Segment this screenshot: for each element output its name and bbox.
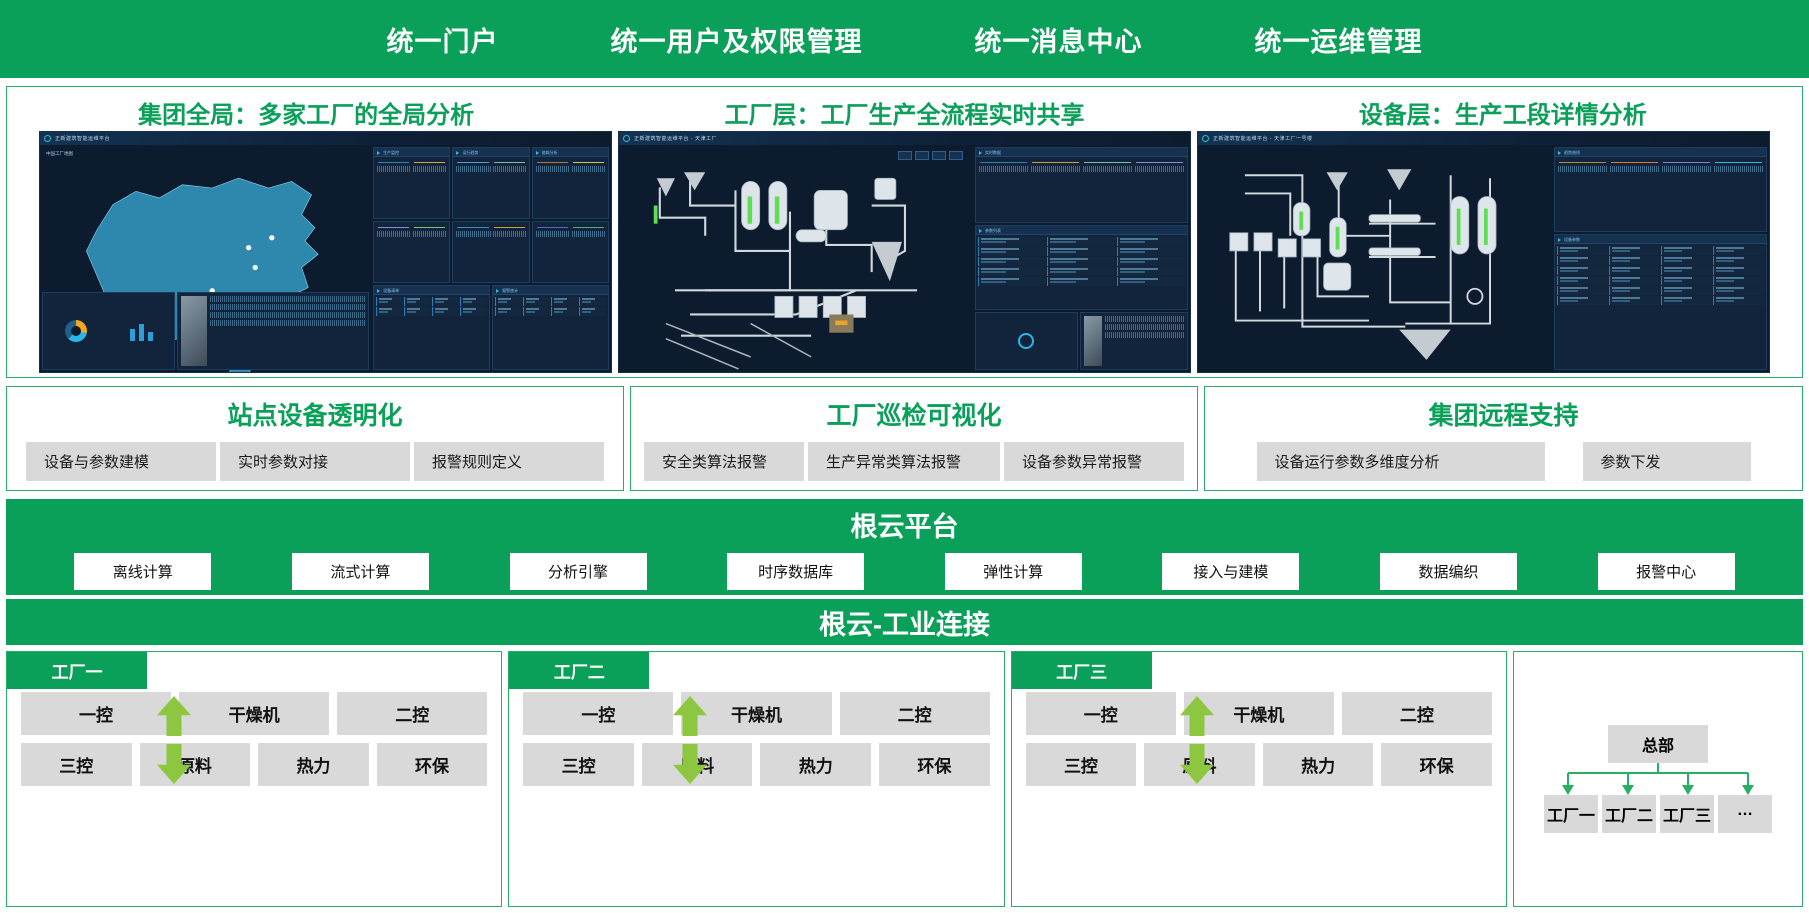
capability-panel-remote-support: 集团远程支持 设备运行参数多维度分析 参数下发	[1204, 386, 1803, 491]
banner-item-user-permission[interactable]: 统一用户及权限管理	[611, 20, 863, 59]
chip-ingest-and-modeling[interactable]: 接入与建模	[1162, 553, 1299, 590]
chip-production-anomaly-alarm[interactable]: 生产异常类算法报警	[808, 442, 1000, 481]
factory-tab-1[interactable]: 工厂一	[7, 652, 147, 689]
factory-box-2: 工厂二 一控 干燥机 二控 三控 原料 热力 环保	[508, 651, 1004, 907]
chip-alarm-center[interactable]: 报警中心	[1598, 553, 1735, 590]
banner-item-ops-management[interactable]: 统一运维管理	[1255, 20, 1423, 59]
dashboard3-title: 正新建筑智能运维平台 - 天津工厂一号楼	[1213, 135, 1312, 142]
thumbnail-photo	[181, 296, 207, 366]
dashboard2-title: 正新建筑智能运维平台 - 天津工厂	[634, 135, 717, 142]
chip-alarm-rule-definition[interactable]: 报警规则定义	[414, 442, 604, 481]
banner-item-message-center[interactable]: 统一消息中心	[975, 20, 1143, 59]
capability-title: 工厂巡检可视化	[826, 396, 1001, 432]
dashboard-section: 集团全局：多家工厂的全局分析 工厂层：工厂生产全流程实时共享 设备层：生产工段详…	[6, 86, 1803, 378]
capability-panels: 站点设备透明化 设备与参数建模 实时参数对接 报警规则定义 工厂巡检可视化 安全…	[6, 386, 1803, 491]
factory-1-cell-yikong[interactable]: 一控	[21, 692, 171, 735]
chip-offline-compute[interactable]: 离线计算	[74, 553, 211, 590]
panel-title: 实时数据	[976, 148, 1187, 157]
dashboard2-logo-icon	[623, 135, 630, 142]
factory-1-cells: 一控 干燥机 二控 三控 原料 热力 环保	[21, 692, 487, 786]
slide-root: 统一门户 统一用户及权限管理 统一消息中心 统一运维管理 集团全局：多家工厂的全…	[0, 0, 1809, 913]
capability-chip-group: 设备与参数建模 实时参数对接 报警规则定义	[26, 442, 604, 481]
panel-title: 报警统计	[493, 286, 608, 295]
dashboard1-title: 正新建筑智能运维平台	[55, 135, 110, 142]
hq-hierarchy-box: 总部 工厂一 工厂二 工厂三 …	[1513, 651, 1803, 907]
factory-2-cell-erkong[interactable]: 二控	[840, 692, 990, 735]
factory-2-cell-sankong[interactable]: 三控	[523, 743, 634, 786]
industrial-connect-title: 根云-工业连接	[819, 603, 990, 642]
dashboard3-body: 趋势曲线 设备参数	[1198, 145, 1769, 372]
panel-title: 设备清单	[374, 286, 489, 295]
dashboard1-panels: 生产监控 运行趋势	[371, 145, 611, 372]
dashboard2-panels: 实时数据 参数列表	[973, 145, 1190, 372]
capability-title: 集团远程支持	[1428, 396, 1578, 432]
dashboard-screenshot-factory-layer[interactable]: 正新建筑智能运维平台 - 天津工厂	[618, 131, 1191, 373]
factory-tab-2[interactable]: 工厂二	[509, 652, 649, 689]
factory-1-cell-environment[interactable]: 环保	[377, 743, 488, 786]
platform-title: 根云平台	[851, 505, 959, 544]
dashboard3-logo-icon	[1202, 135, 1209, 142]
dashboard3-panels: 趋势曲线 设备参数	[1552, 145, 1769, 372]
thumbnail-photo	[1084, 316, 1102, 366]
dashboard2-process-area	[619, 145, 973, 372]
factory-1-cell-material[interactable]: 原料	[140, 743, 251, 786]
factory-1-cell-dryer[interactable]: 干燥机	[179, 692, 329, 735]
chip-elastic-compute[interactable]: 弹性计算	[945, 553, 1082, 590]
dashboard-screenshot-equipment-layer[interactable]: 正新建筑智能运维平台 - 天津工厂一号楼	[1197, 131, 1770, 373]
chip-stream-compute[interactable]: 流式计算	[292, 553, 429, 590]
capability-panel-site-transparency: 站点设备透明化 设备与参数建模 实时参数对接 报警规则定义	[6, 386, 624, 491]
factory-3-cell-sankong[interactable]: 三控	[1026, 743, 1137, 786]
factory-tab-3[interactable]: 工厂三	[1012, 652, 1152, 689]
gauge-icon	[1018, 333, 1034, 349]
hq-leaf-group: 工厂一 工厂二 工厂三 …	[1544, 795, 1772, 833]
dashboard1-bottom-widgets	[40, 290, 371, 372]
chip-timeseries-database[interactable]: 时序数据库	[727, 553, 864, 590]
dashboard-screenshot-group-global[interactable]: 正新建筑智能运维平台 中国工厂地图	[39, 131, 612, 373]
factory-1-cell-sankong[interactable]: 三控	[21, 743, 132, 786]
dashboard-headings: 集团全局：多家工厂的全局分析 工厂层：工厂生产全流程实时共享 设备层：生产工段详…	[7, 93, 1802, 131]
chip-device-param-anomaly-alarm[interactable]: 设备参数异常报警	[1004, 442, 1184, 481]
platform-band: 根云平台 离线计算 流式计算 分析引擎 时序数据库 弹性计算 接入与建模 数据编…	[6, 499, 1803, 595]
chip-param-dispatch[interactable]: 参数下发	[1583, 442, 1751, 481]
factory-2-cells: 一控 干燥机 二控 三控 原料 热力 环保	[523, 692, 989, 786]
dashboard-thumbnails: 正新建筑智能运维平台 中国工厂地图	[7, 131, 1802, 373]
panel-title: 能耗分析	[533, 148, 608, 157]
hq-leaf-factory-1[interactable]: 工厂一	[1544, 795, 1598, 833]
dashboard2-body: 实时数据 参数列表	[619, 145, 1190, 372]
banner-item-portal[interactable]: 统一门户	[387, 20, 499, 59]
dashboard2-titlebar: 正新建筑智能运维平台 - 天津工厂	[619, 132, 1190, 145]
panel-title: 参数列表	[976, 226, 1187, 235]
factory-1-cell-erkong[interactable]: 二控	[337, 692, 487, 735]
factory-box-3: 工厂三 一控 干燥机 二控 三控 原料 热力 环保	[1011, 651, 1507, 907]
donut-chart	[65, 320, 87, 342]
process-flow-diagram-icon	[619, 145, 973, 372]
chip-safety-algorithm-alarm[interactable]: 安全类算法报警	[644, 442, 804, 481]
chip-device-param-modeling[interactable]: 设备与参数建模	[26, 442, 216, 481]
hq-leaf-factory-3[interactable]: 工厂三	[1660, 795, 1714, 833]
factory-2-cell-thermal[interactable]: 热力	[760, 743, 871, 786]
bar-chart	[130, 321, 153, 341]
panel-title: 生产监控	[374, 148, 449, 157]
top-banner: 统一门户 统一用户及权限管理 统一消息中心 统一运维管理	[0, 0, 1809, 78]
chip-analytics-engine[interactable]: 分析引擎	[510, 553, 647, 590]
factory-1-cell-thermal[interactable]: 热力	[258, 743, 369, 786]
factory-3-cell-thermal[interactable]: 热力	[1263, 743, 1374, 786]
factory-box-1: 工厂一 一控 干燥机 二控 三控 原料 热力 环保	[6, 651, 502, 907]
dashboard3-titlebar: 正新建筑智能运维平台 - 天津工厂一号楼	[1198, 132, 1769, 145]
factory-3-cells: 一控 干燥机 二控 三控 原料 热力 环保	[1026, 692, 1492, 786]
hq-leaf-factory-2[interactable]: 工厂二	[1602, 795, 1656, 833]
platform-chip-group: 离线计算 流式计算 分析引擎 时序数据库 弹性计算 接入与建模 数据编织 报警中…	[6, 553, 1803, 590]
industrial-connect-band: 根云-工业连接	[6, 599, 1803, 645]
chip-multi-dimension-analysis[interactable]: 设备运行参数多维度分析	[1257, 442, 1545, 481]
factory-2-cell-yikong[interactable]: 一控	[523, 692, 673, 735]
chip-data-fabric[interactable]: 数据编织	[1380, 553, 1517, 590]
pid-schematic-icon	[1198, 145, 1552, 372]
hq-root-node[interactable]: 总部	[1608, 725, 1708, 763]
factory-row: 工厂一 一控 干燥机 二控 三控 原料 热力 环保 工厂二 一控	[6, 651, 1803, 907]
heading-factory-layer: 工厂层：工厂生产全流程实时共享	[605, 95, 1203, 130]
factory-3-cell-environment[interactable]: 环保	[1381, 743, 1492, 786]
panel-title: 设备参数	[1555, 235, 1766, 244]
panel-title: 趋势曲线	[1555, 148, 1766, 157]
capability-chip-group: 安全类算法报警 生产异常类算法报警 设备参数异常报警	[644, 442, 1184, 481]
capability-panel-inspection-visual: 工厂巡检可视化 安全类算法报警 生产异常类算法报警 设备参数异常报警	[630, 386, 1198, 491]
heading-equipment-layer: 设备层：生产工段详情分析	[1204, 95, 1802, 130]
dashboard1-logo-icon	[44, 135, 51, 142]
chip-realtime-param-link[interactable]: 实时参数对接	[220, 442, 410, 481]
factory-3-cell-yikong[interactable]: 一控	[1026, 692, 1176, 735]
factory-3-cell-erkong[interactable]: 二控	[1342, 692, 1492, 735]
hq-leaf-more[interactable]: …	[1718, 795, 1772, 833]
capability-chip-group: 设备运行参数多维度分析 参数下发	[1257, 442, 1751, 481]
heading-group-global: 集团全局：多家工厂的全局分析	[7, 95, 605, 130]
capability-title: 站点设备透明化	[227, 396, 402, 432]
dashboard3-pid-area	[1198, 145, 1552, 372]
hq-tree-connector-icon	[1538, 763, 1778, 795]
panel-title: 运行趋势	[453, 148, 528, 157]
dashboard1-titlebar: 正新建筑智能运维平台	[40, 132, 611, 145]
factory-2-cell-environment[interactable]: 环保	[879, 743, 990, 786]
